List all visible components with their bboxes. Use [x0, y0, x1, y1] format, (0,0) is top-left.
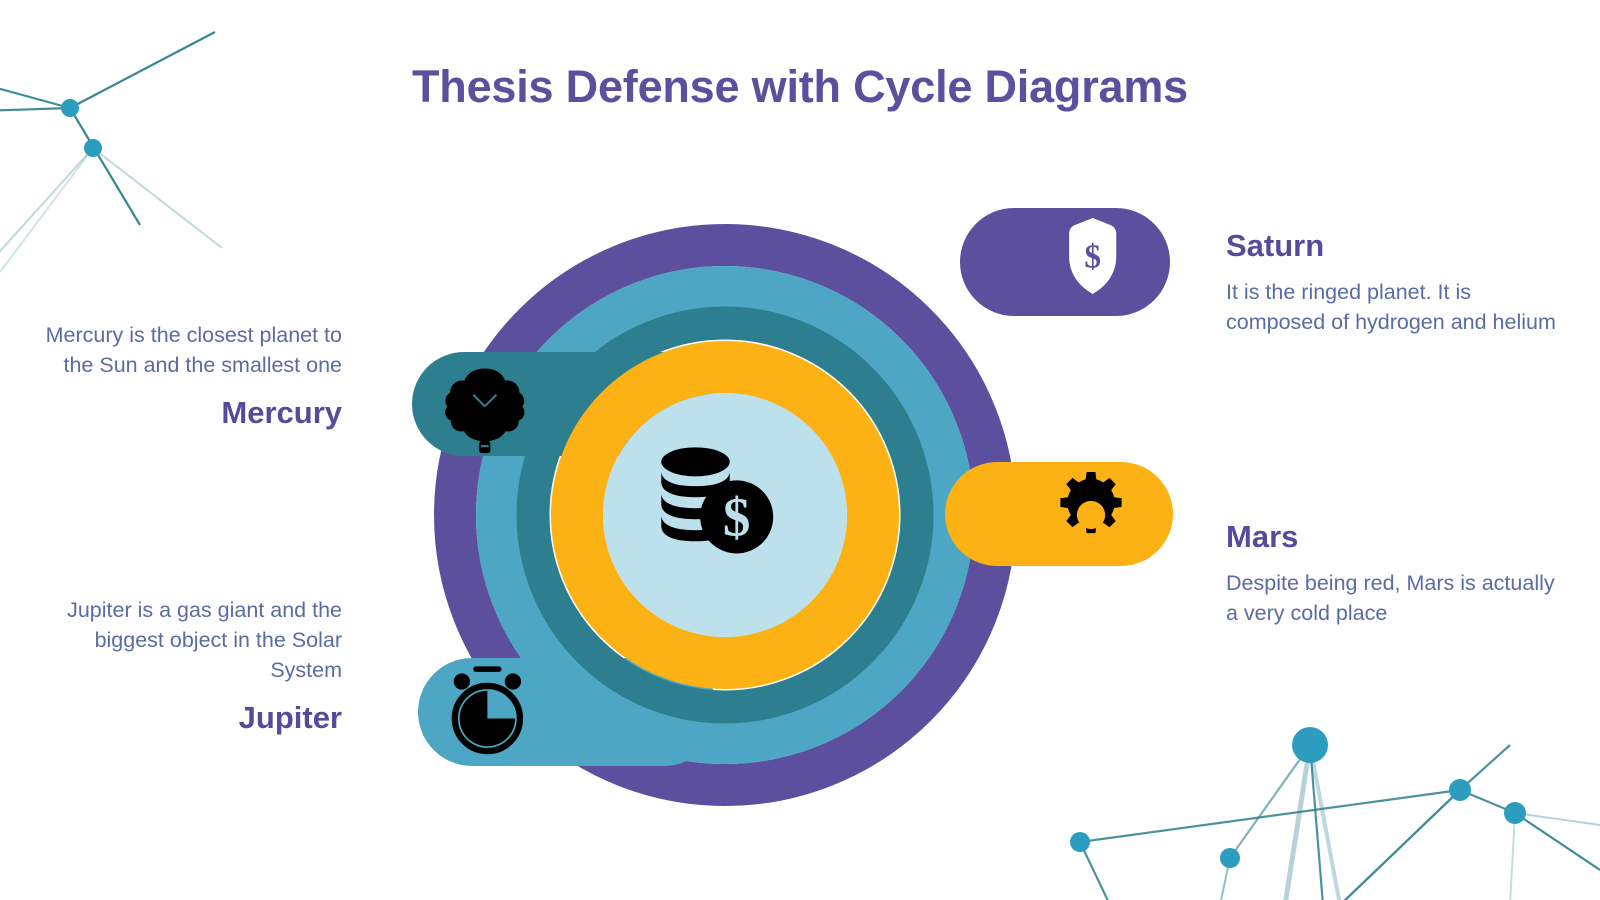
saturn-description: It is the ringed planet. It is composed …	[1226, 277, 1556, 337]
network-node	[1292, 727, 1328, 763]
jupiter-heading: Jupiter	[30, 699, 342, 738]
network-node	[1220, 848, 1240, 868]
saturn-heading: Saturn	[1226, 227, 1556, 266]
network-node	[1449, 779, 1471, 801]
network-node	[1070, 832, 1090, 852]
mars-description: Despite being red, Mars is actually a ve…	[1226, 568, 1556, 628]
gear-icon	[1060, 472, 1121, 533]
network-node	[84, 139, 102, 157]
mercury-heading: Mercury	[30, 394, 342, 433]
mercury-description: Mercury is the closest planet to the Sun…	[30, 320, 342, 380]
ring-saturn-tab[interactable]	[960, 208, 1170, 316]
cycle-diagram: $	[400, 190, 1190, 810]
decorative-network-top-left	[0, 0, 300, 300]
text-block-mercury: Mercury is the closest planet to the Sun…	[30, 320, 342, 433]
ring-mars-tab[interactable]	[945, 462, 1173, 566]
svg-text:$: $	[723, 486, 751, 547]
mars-heading: Mars	[1226, 518, 1556, 557]
slide-title: Thesis Defense with Cycle Diagrams	[0, 62, 1600, 112]
svg-text:$: $	[1084, 239, 1101, 276]
network-node	[1504, 802, 1526, 824]
text-block-jupiter: Jupiter is a gas giant and the biggest o…	[30, 595, 342, 738]
text-block-mars: Mars Despite being red, Mars is actually…	[1226, 518, 1556, 628]
text-block-saturn: Saturn It is the ringed planet. It is co…	[1226, 227, 1556, 337]
jupiter-description: Jupiter is a gas giant and the biggest o…	[30, 595, 342, 685]
slide-canvas: Thesis Defense with Cycle Diagrams Mercu…	[0, 0, 1600, 900]
